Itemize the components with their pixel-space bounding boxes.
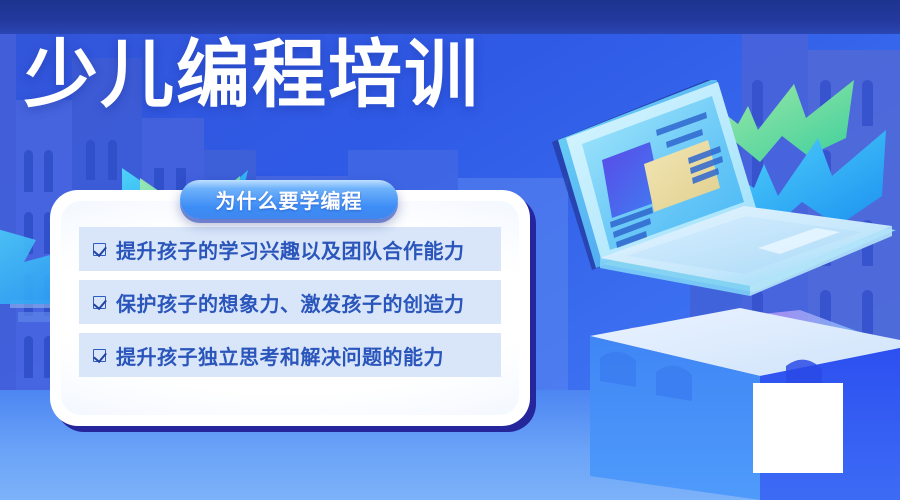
list-item[interactable]: 提升孩子的学习兴趣以及团队合作能力 [79,227,501,271]
laptop-illustration [540,80,900,370]
page-title: 少儿编程培训 [24,38,480,112]
poster-canvas: 少儿编程培训 为什么要学编程 提升孩子的学习兴趣以及团队合作能力 保护孩子的想象… [0,0,900,500]
check-icon [93,296,106,309]
window [24,150,33,192]
list-item[interactable]: 提升孩子独立思考和解决问题的能力 [79,333,501,377]
window [108,140,117,180]
list-item-label: 提升孩子独立思考和解决问题的能力 [116,341,444,370]
window [44,150,53,192]
shop-sign [18,312,52,322]
qr-code-placeholder[interactable] [753,383,843,473]
section-badge: 为什么要学编程 [180,180,398,219]
check-icon [93,243,106,256]
benefits-card-inner: 提升孩子的学习兴趣以及团队合作能力 保护孩子的想象力、激发孩子的创造力 提升孩子… [61,201,519,415]
list-item[interactable]: 保护孩子的想象力、激发孩子的创造力 [79,280,501,324]
list-item-label: 提升孩子的学习兴趣以及团队合作能力 [116,235,465,264]
window [24,336,33,378]
window [86,140,95,180]
check-icon [93,349,106,362]
section-badge-label: 为什么要学编程 [216,185,363,214]
benefits-card: 提升孩子的学习兴趣以及团队合作能力 保护孩子的想象力、激发孩子的创造力 提升孩子… [50,190,530,426]
top-strip [0,0,900,34]
list-item-label: 保护孩子的想象力、激发孩子的创造力 [116,288,465,317]
